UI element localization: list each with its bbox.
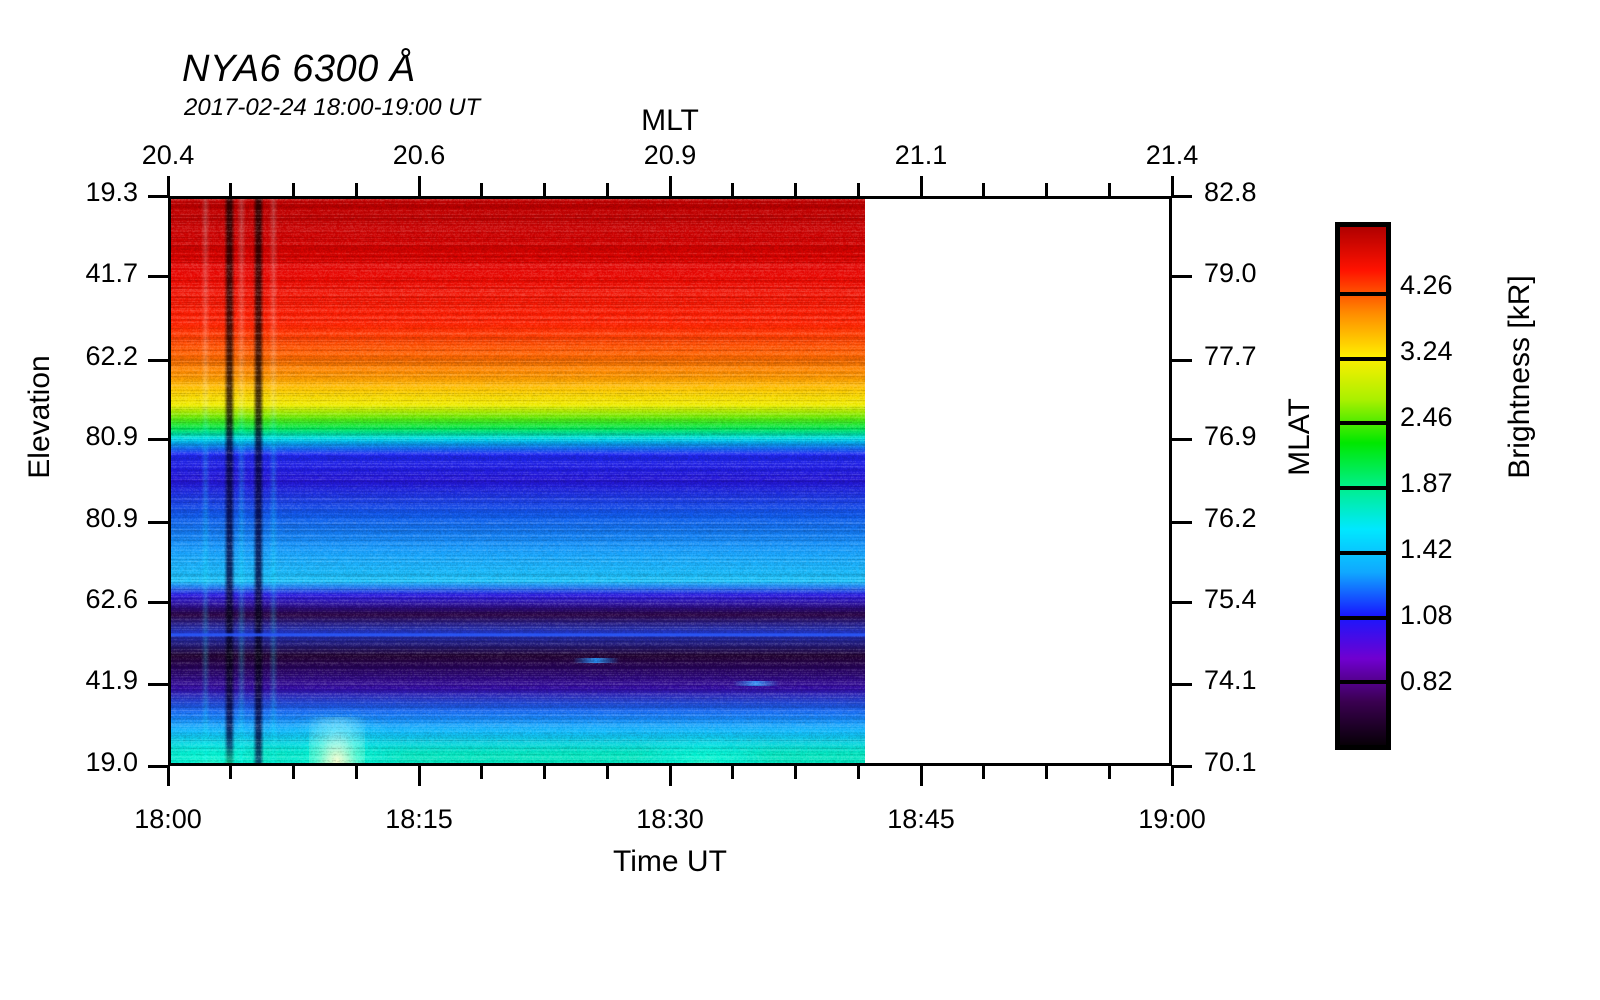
x-tick-minor-3-1 [982, 766, 985, 779]
green-blob-early [171, 708, 286, 763]
x-tick-label-3: 18:45 [841, 804, 1001, 835]
green-blob-yellow-core [309, 717, 365, 763]
mlt-tick-minor-3-2 [1045, 183, 1048, 196]
y2-tick-4 [1172, 521, 1192, 524]
colorbar-divider-0 [1340, 292, 1386, 296]
mlt-tick-minor-2-1 [731, 183, 734, 196]
mlt-tick-label-0: 20.4 [88, 140, 248, 171]
x-tick-label-1: 18:15 [339, 804, 499, 835]
mlt-tick-major-4 [1171, 176, 1174, 196]
x-tick-major-0 [167, 766, 170, 786]
y-tick-label-6: 41.9 [0, 665, 138, 696]
mlt-tick-major-1 [418, 176, 421, 196]
y2-tick-label-1: 79.0 [1204, 258, 1324, 289]
keogram-figure: NYA6 6300 Å 2017-02-24 18:00-19:00 UT ML… [0, 0, 1600, 1000]
colorbar-divider-5 [1340, 616, 1386, 620]
colorbar-divider-1 [1340, 357, 1386, 361]
y2-tick-0 [1172, 195, 1192, 198]
y-tick-1 [148, 275, 168, 278]
green-blob-yellow [262, 677, 412, 763]
top-axis-title: MLT [0, 104, 1340, 138]
mlt-tick-major-2 [669, 176, 672, 196]
mlt-tick-minor-1-1 [480, 183, 483, 196]
x-tick-minor-2-1 [731, 766, 734, 779]
x-tick-minor-0-2 [292, 766, 295, 779]
x-tick-label-4: 19:00 [1092, 804, 1252, 835]
x-tick-major-3 [920, 766, 923, 786]
mlt-tick-label-3: 21.1 [841, 140, 1001, 171]
x-tick-minor-2-2 [794, 766, 797, 779]
y-tick-label-4: 80.9 [0, 503, 138, 534]
x-tick-minor-0-1 [229, 766, 232, 779]
y-tick-0 [148, 195, 168, 198]
y2-tick-5 [1172, 601, 1192, 604]
green-blob-late [628, 708, 778, 763]
mlt-tick-minor-0-2 [292, 183, 295, 196]
x-axis-title: Time UT [0, 845, 1340, 879]
colorbar-divider-4 [1340, 551, 1386, 555]
page-title: NYA6 6300 Å [182, 48, 416, 91]
mlt-tick-minor-0-1 [229, 183, 232, 196]
colorbar [1335, 222, 1391, 750]
mlt-tick-minor-0-3 [355, 183, 358, 196]
plot-area [168, 196, 1172, 766]
y-tick-label-1: 41.7 [0, 258, 138, 289]
mlt-tick-minor-2-2 [794, 183, 797, 196]
y-tick-6 [148, 683, 168, 686]
mlt-tick-major-0 [167, 176, 170, 196]
y2-tick-label-7: 70.1 [1204, 747, 1324, 778]
mlt-tick-minor-1-3 [606, 183, 609, 196]
y-tick-label-0: 19.3 [0, 177, 138, 208]
y2-tick-6 [1172, 683, 1192, 686]
x-tick-major-4 [1171, 766, 1174, 786]
x-tick-label-2: 18:30 [590, 804, 750, 835]
mlt-tick-minor-2-3 [857, 183, 860, 196]
y2-tick-label-0: 82.8 [1204, 177, 1324, 208]
mlt-tick-label-1: 20.6 [339, 140, 499, 171]
cyan-streak-0 [573, 658, 619, 663]
y-tick-label-2: 62.2 [0, 341, 138, 372]
colorbar-tick-label-4: 1.42 [1400, 534, 1453, 565]
x-tick-major-2 [669, 766, 672, 786]
mlt-tick-minor-3-3 [1108, 183, 1111, 196]
y-tick-5 [148, 601, 168, 604]
colorbar-tick-label-2: 2.46 [1400, 402, 1453, 433]
y2-tick-1 [1172, 275, 1192, 278]
y-tick-7 [148, 765, 168, 768]
colorbar-divider-2 [1340, 421, 1386, 425]
y2-tick-7 [1172, 765, 1192, 768]
dropout-halo-0 [201, 199, 210, 763]
y2-axis-title: MLAT [1283, 327, 1317, 547]
x-tick-minor-0-3 [355, 766, 358, 779]
y2-tick-label-5: 75.4 [1204, 584, 1324, 615]
colorbar-divider-3 [1340, 486, 1386, 490]
y2-tick-2 [1172, 359, 1192, 362]
colorbar-tick-label-3: 1.87 [1400, 468, 1453, 499]
keogram-image [171, 199, 865, 763]
x-tick-minor-1-3 [606, 766, 609, 779]
y-tick-label-7: 19.0 [0, 747, 138, 778]
y-tick-2 [148, 359, 168, 362]
dropout-halo-1 [237, 199, 246, 763]
y2-tick-label-6: 74.1 [1204, 665, 1324, 696]
dropout-stripe-b [253, 199, 264, 763]
cyan-streak-1 [733, 681, 779, 686]
y-tick-label-3: 80.9 [0, 421, 138, 452]
x-tick-major-1 [418, 766, 421, 786]
mlt-tick-minor-1-2 [543, 183, 546, 196]
x-tick-minor-2-3 [857, 766, 860, 779]
colorbar-tick-label-1: 3.24 [1400, 336, 1453, 367]
dropout-stripe-a [224, 199, 235, 763]
colorbar-divider-6 [1340, 680, 1386, 684]
y-tick-3 [148, 438, 168, 441]
colorbar-tick-label-6: 0.82 [1400, 666, 1453, 697]
y-tick-4 [148, 521, 168, 524]
x-tick-minor-1-1 [480, 766, 483, 779]
x-tick-minor-1-2 [543, 766, 546, 779]
colorbar-tick-label-0: 4.26 [1400, 270, 1453, 301]
dropout-halo-2 [269, 199, 278, 763]
y-tick-label-5: 62.6 [0, 584, 138, 615]
colorbar-tick-label-5: 1.08 [1400, 600, 1453, 631]
y2-tick-3 [1172, 438, 1192, 441]
y-axis-title: Elevation [23, 307, 57, 527]
x-tick-minor-3-3 [1108, 766, 1111, 779]
x-tick-minor-3-2 [1045, 766, 1048, 779]
colorbar-title: Brightness [kR] [1503, 207, 1537, 547]
x-tick-label-0: 18:00 [88, 804, 248, 835]
mlt-tick-minor-3-1 [982, 183, 985, 196]
mlt-tick-major-3 [920, 176, 923, 196]
mlt-tick-label-4: 21.4 [1092, 140, 1252, 171]
mlt-tick-label-2: 20.9 [590, 140, 750, 171]
